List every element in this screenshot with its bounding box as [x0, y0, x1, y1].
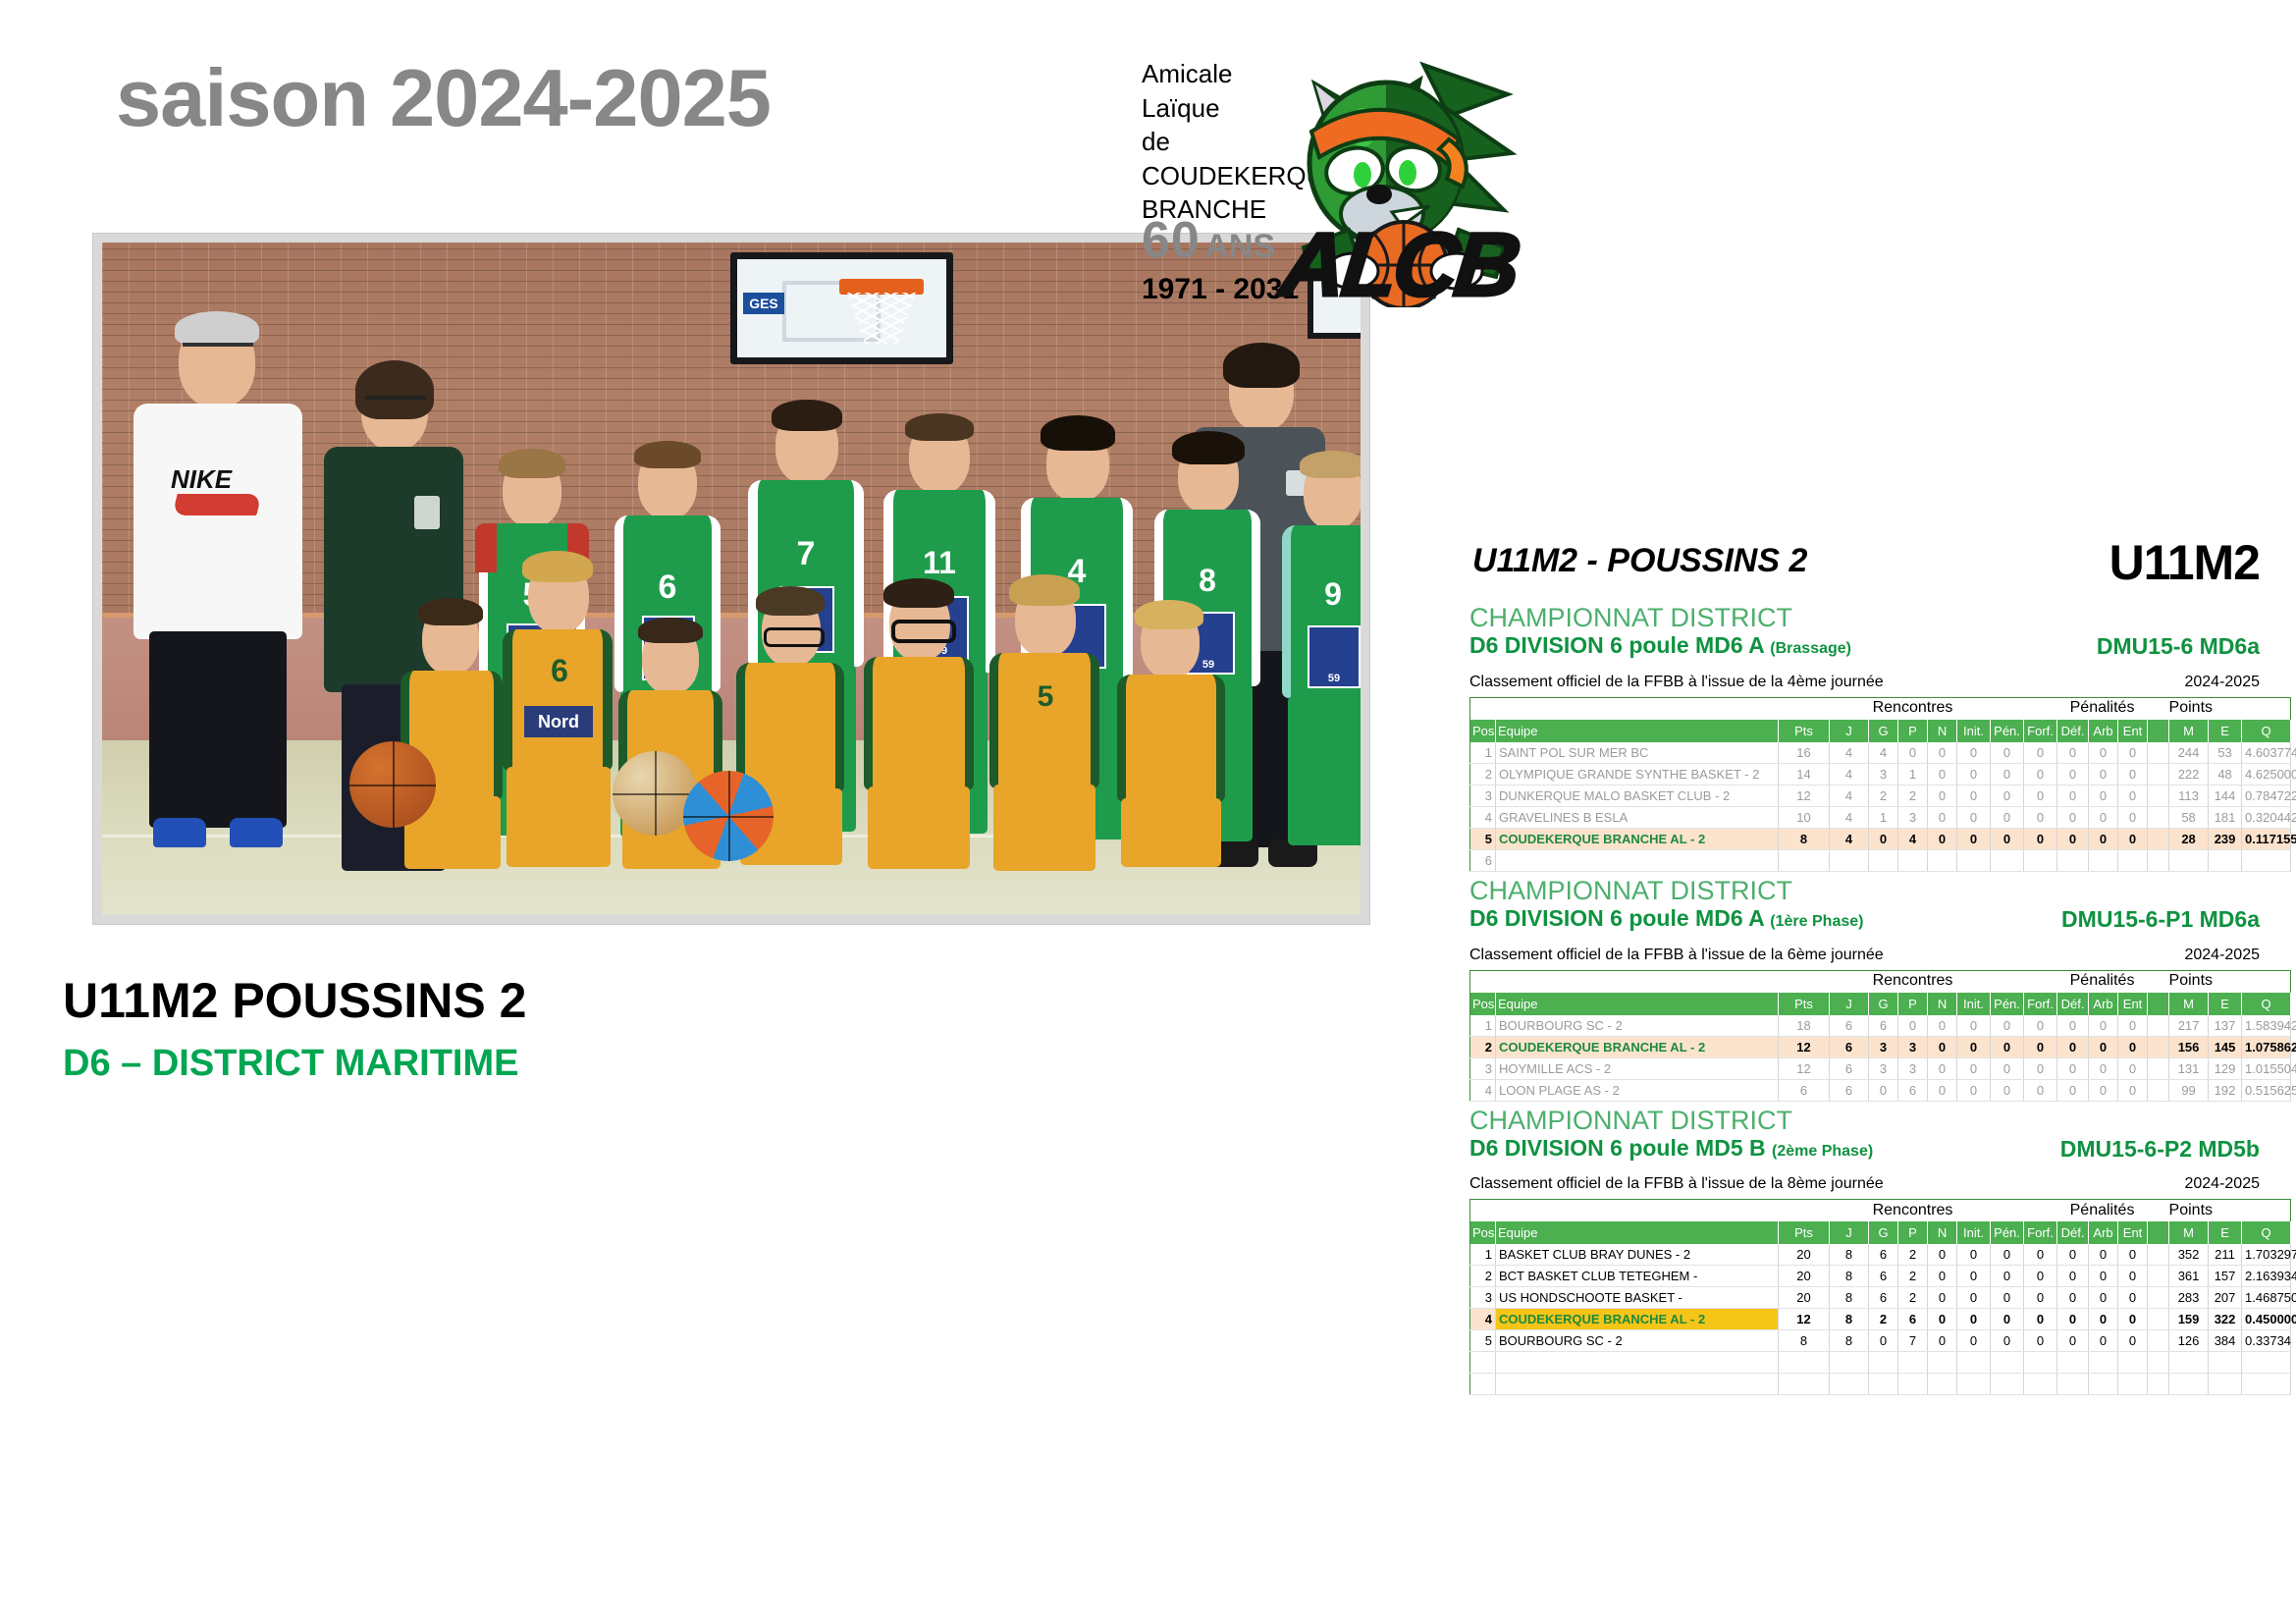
team-photo: GES NIKE [102, 243, 1361, 915]
table-row: 2COUDEKERQUE BRANCHE AL - 21263300000001… [1470, 1036, 2291, 1057]
cell-team: COUDEKERQUE BRANCHE AL - 2 [1496, 828, 1779, 849]
cell-pts: 16 [1779, 742, 1830, 764]
cell-arb: 0 [2089, 742, 2118, 764]
col-pen: Pén. [1991, 720, 2024, 742]
cell-n: 0 [1928, 1244, 1957, 1266]
cell-init: 0 [1957, 1079, 1991, 1101]
table-row: 1SAINT POL SUR MER BC164400000000244534.… [1470, 742, 2291, 764]
col-arb: Arb [2089, 993, 2118, 1015]
cell-forf: 0 [2024, 828, 2057, 849]
cell-forf [2024, 1374, 2057, 1395]
basketball-rim [839, 279, 924, 295]
cell-spacer [2148, 849, 2169, 871]
championship-label: CHAMPIONNAT DISTRICT [1469, 603, 2260, 632]
cell-g: 3 [1869, 1036, 1898, 1057]
cell-def: 0 [2057, 763, 2089, 785]
cell-pts: 12 [1779, 1036, 1830, 1057]
cell-j: 8 [1830, 1244, 1869, 1266]
cell-arb [2089, 1352, 2118, 1374]
cell-arb: 0 [2089, 785, 2118, 806]
division-line: D6 DIVISION 6 poule MD6 A (1ère Phase) D… [1469, 905, 2260, 933]
cell-init [1957, 849, 1991, 871]
col-j: J [1830, 1221, 1869, 1244]
cell-pos: 3 [1470, 1287, 1496, 1309]
cell-g: 3 [1869, 763, 1898, 785]
cell-spacer [2148, 1309, 2169, 1330]
cell-init: 0 [1957, 828, 1991, 849]
cell-init [1957, 1374, 1991, 1395]
cell-j: 4 [1830, 806, 1869, 828]
cell-e: 181 [2209, 806, 2242, 828]
cell-q: 1.075862 [2242, 1036, 2291, 1057]
cell-forf [2024, 1352, 2057, 1374]
cell-ent: 0 [2118, 1057, 2148, 1079]
cell-g: 2 [1869, 785, 1898, 806]
cell-pos: 2 [1470, 763, 1496, 785]
cell-p: 3 [1898, 806, 1928, 828]
cell-n: 0 [1928, 806, 1957, 828]
cell-q: 0.450000 [2242, 1309, 2291, 1330]
cell-e [2209, 1374, 2242, 1395]
cell-e: 207 [2209, 1287, 2242, 1309]
cell-init: 0 [1957, 1036, 1991, 1057]
col-j: J [1830, 720, 1869, 742]
player-gold-front-1 [395, 604, 512, 869]
cell-team: BASKET CLUB BRAY DUNES - 2 [1496, 1244, 1779, 1266]
division-code: DMU15-6 MD6a [2097, 633, 2260, 661]
cell-q: 4.625000 [2242, 763, 2291, 785]
cell-n: 0 [1928, 1309, 1957, 1330]
division-line: D6 DIVISION 6 poule MD6 A (Brassage) DMU… [1469, 632, 2260, 660]
cell-team: DUNKERQUE MALO BASKET CLUB - 2 [1496, 785, 1779, 806]
cell-forf: 0 [2024, 806, 2057, 828]
cell-forf: 0 [2024, 1015, 2057, 1037]
cell-g: 6 [1869, 1266, 1898, 1287]
cell-q [2242, 1374, 2291, 1395]
cell-init: 0 [1957, 1330, 1991, 1352]
classement-season: 2024-2025 [2184, 674, 2260, 691]
cell-e: 239 [2209, 828, 2242, 849]
cell-p: 6 [1898, 1309, 1928, 1330]
cell-arb: 0 [2089, 1036, 2118, 1057]
cell-init [1957, 1352, 1991, 1374]
cell-j: 6 [1830, 1079, 1869, 1101]
cell-pen: 0 [1991, 1015, 2024, 1037]
cell-n: 0 [1928, 1079, 1957, 1101]
cell-forf: 0 [2024, 1057, 2057, 1079]
cell-n: 0 [1928, 763, 1957, 785]
col-e: E [2209, 720, 2242, 742]
cell-pen: 0 [1991, 785, 2024, 806]
column-group-row: Rencontres Pénalités Points [1470, 697, 2291, 720]
cell-m: 131 [2169, 1057, 2209, 1079]
cell-spacer [2148, 785, 2169, 806]
table-row: 4LOON PLAGE AS - 266060000000991920.5156… [1470, 1079, 2291, 1101]
col-ent: Ent [2118, 720, 2148, 742]
cell-e: 145 [2209, 1036, 2242, 1057]
cell-def [2057, 1352, 2089, 1374]
group-rencontres: Rencontres [1869, 970, 1957, 993]
cell-pos [1470, 1352, 1496, 1374]
cell-arb: 0 [2089, 763, 2118, 785]
basketball-backboard: GES [730, 252, 953, 364]
cell-pos: 1 [1470, 742, 1496, 764]
cell-p: 4 [1898, 828, 1928, 849]
cell-pts [1779, 849, 1830, 871]
cell-pen: 0 [1991, 1079, 2024, 1101]
classement-line: Classement officiel de la FFBB à l'issue… [1469, 1175, 2260, 1193]
cell-pts: 8 [1779, 1330, 1830, 1352]
coach-male: NIKE [120, 317, 306, 867]
cell-m: 352 [2169, 1244, 2209, 1266]
cell-n [1928, 1352, 1957, 1374]
cell-spacer [2148, 806, 2169, 828]
cell-q: 1.703297 [2242, 1244, 2291, 1266]
cell-pos: 5 [1470, 1330, 1496, 1352]
cell-e: 53 [2209, 742, 2242, 764]
cell-spacer [2148, 1244, 2169, 1266]
cell-spacer [2148, 1287, 2169, 1309]
col-m: M [2169, 993, 2209, 1015]
cell-n: 0 [1928, 742, 1957, 764]
col-m: M [2169, 1221, 2209, 1244]
cell-def [2057, 1374, 2089, 1395]
cell-init: 0 [1957, 763, 1991, 785]
cell-arb: 0 [2089, 828, 2118, 849]
col-ent: Ent [2118, 1221, 2148, 1244]
col-init: Init. [1957, 720, 1991, 742]
cell-pos: 4 [1470, 1079, 1496, 1101]
cell-pos: 6 [1470, 849, 1496, 871]
cell-n: 0 [1928, 1015, 1957, 1037]
cell-ent: 0 [2118, 1036, 2148, 1057]
col-team: Equipe [1496, 720, 1779, 742]
cell-m: 244 [2169, 742, 2209, 764]
cell-arb: 0 [2089, 1244, 2118, 1266]
cell-def: 0 [2057, 1057, 2089, 1079]
player-gold-front-4 [858, 586, 982, 871]
cell-forf: 0 [2024, 785, 2057, 806]
cell-pts: 12 [1779, 1309, 1830, 1330]
cell-def: 0 [2057, 828, 2089, 849]
standings-rows: 1BASKET CLUB BRAY DUNES - 22086200000003… [1470, 1244, 2291, 1395]
cell-pts [1779, 1374, 1830, 1395]
classement-text: Classement officiel de la FFBB à l'issue… [1469, 674, 1884, 690]
cell-ent: 0 [2118, 763, 2148, 785]
cell-def: 0 [2057, 806, 2089, 828]
basketball-blue-orange [683, 771, 774, 861]
cell-g: 6 [1869, 1287, 1898, 1309]
club-logo-wordmark: ALCB [1275, 214, 1522, 317]
cell-j: 4 [1830, 763, 1869, 785]
cell-j: 8 [1830, 1287, 1869, 1309]
cell-arb: 0 [2089, 1015, 2118, 1037]
group-rencontres: Rencontres [1869, 1200, 1957, 1222]
cell-pts [1779, 1352, 1830, 1374]
cell-e: 384 [2209, 1330, 2242, 1352]
season-title: saison 2024-2025 [116, 57, 771, 138]
anniversary-number: 60 [1142, 212, 1201, 269]
championship-label: CHAMPIONNAT DISTRICT [1469, 876, 2260, 905]
cell-j: 6 [1830, 1015, 1869, 1037]
cell-ent: 0 [2118, 806, 2148, 828]
column-header-row: Pos Equipe PtsJG PNInit. Pén.Forf.Déf. A… [1470, 1221, 2291, 1244]
cell-ent: 0 [2118, 742, 2148, 764]
cell-init: 0 [1957, 1287, 1991, 1309]
cell-def: 0 [2057, 1309, 2089, 1330]
cell-def: 0 [2057, 742, 2089, 764]
cell-p: 3 [1898, 1036, 1928, 1057]
cell-team: BOURBOURG SC - 2 [1496, 1015, 1779, 1037]
cell-team: BCT BASKET CLUB TETEGHEM - [1496, 1266, 1779, 1287]
cell-ent [2118, 849, 2148, 871]
cell-init: 0 [1957, 806, 1991, 828]
cell-n: 0 [1928, 1287, 1957, 1309]
cell-pts: 14 [1779, 763, 1830, 785]
col-forf: Forf. [2024, 720, 2057, 742]
cell-forf: 0 [2024, 1079, 2057, 1101]
cell-p [1898, 849, 1928, 871]
cell-pos: 4 [1470, 806, 1496, 828]
col-q: Q [2242, 720, 2291, 742]
cell-g: 0 [1869, 1330, 1898, 1352]
cell-e [2209, 1352, 2242, 1374]
anniversary-word: ANS [1204, 228, 1275, 265]
cell-pts: 10 [1779, 806, 1830, 828]
col-n: N [1928, 720, 1957, 742]
table-row [1470, 1352, 2291, 1374]
group-penalites: Pénalités [2057, 1200, 2148, 1222]
division-code: DMU15-6-P1 MD6a [2061, 906, 2260, 934]
division-code: DMU15-6-P2 MD5b [2060, 1136, 2260, 1164]
cell-m: 126 [2169, 1330, 2209, 1352]
col-def: Déf. [2057, 1221, 2089, 1244]
cell-def: 0 [2057, 1330, 2089, 1352]
page-title: U11M2 POUSSINS 2 [63, 972, 526, 1029]
cell-ent: 0 [2118, 1309, 2148, 1330]
cell-p: 2 [1898, 1266, 1928, 1287]
cell-e: 211 [2209, 1244, 2242, 1266]
cell-pen: 0 [1991, 1287, 2024, 1309]
cell-pos: 2 [1470, 1036, 1496, 1057]
col-forf: Forf. [2024, 993, 2057, 1015]
cell-ent: 0 [2118, 1287, 2148, 1309]
cell-pen [1991, 1352, 2024, 1374]
cell-ent [2118, 1352, 2148, 1374]
cell-pts: 8 [1779, 828, 1830, 849]
anniversary-block: 60 ANS [1142, 211, 1275, 270]
col-p: P [1898, 720, 1928, 742]
cell-arb: 0 [2089, 1079, 2118, 1101]
cell-pts: 20 [1779, 1266, 1830, 1287]
table-row: 4COUDEKERQUE BRANCHE AL - 21282600000001… [1470, 1309, 2291, 1330]
col-g: G [1869, 993, 1898, 1015]
col-arb: Arb [2089, 720, 2118, 742]
cell-q: 0.515625 [2242, 1079, 2291, 1101]
cell-m: 58 [2169, 806, 2209, 828]
cell-pts: 12 [1779, 1057, 1830, 1079]
cell-j: 8 [1830, 1330, 1869, 1352]
cell-team: OLYMPIQUE GRANDE SYNTHE BASKET - 2 [1496, 763, 1779, 785]
cell-q: 0.33734 [2242, 1330, 2291, 1352]
cell-spacer [2148, 1036, 2169, 1057]
cell-m: 159 [2169, 1309, 2209, 1330]
col-init: Init. [1957, 1221, 1991, 1244]
cell-forf: 0 [2024, 1266, 2057, 1287]
col-pts: Pts [1779, 720, 1830, 742]
cell-forf: 0 [2024, 742, 2057, 764]
cell-j: 4 [1830, 742, 1869, 764]
cell-j [1830, 849, 1869, 871]
cell-init: 0 [1957, 1266, 1991, 1287]
cell-q: 1.015504 [2242, 1057, 2291, 1079]
cell-def: 0 [2057, 1036, 2089, 1057]
cell-spacer [2148, 1266, 2169, 1287]
cell-pos: 1 [1470, 1015, 1496, 1037]
cell-init: 0 [1957, 742, 1991, 764]
cell-pen: 0 [1991, 1266, 2024, 1287]
cell-forf: 0 [2024, 1309, 2057, 1330]
table-row: 5COUDEKERQUE BRANCHE AL - 28404000000028… [1470, 828, 2291, 849]
cell-pen: 0 [1991, 742, 2024, 764]
cell-e: 157 [2209, 1266, 2242, 1287]
cell-p: 0 [1898, 1015, 1928, 1037]
classement-text: Classement officiel de la FFBB à l'issue… [1469, 1175, 1884, 1192]
table-row: 2OLYMPIQUE GRANDE SYNTHE BASKET - 214431… [1470, 763, 2291, 785]
standings-table: Rencontres Pénalités Points Pos Equipe P… [1469, 970, 2291, 1102]
cell-g: 6 [1869, 1015, 1898, 1037]
cell-def [2057, 849, 2089, 871]
standings-rows: 1SAINT POL SUR MER BC164400000000244534.… [1470, 742, 2291, 872]
cell-arb [2089, 849, 2118, 871]
table-row: 4GRAVELINES B ESLA104130000000581810.320… [1470, 806, 2291, 828]
cell-j: 6 [1830, 1036, 1869, 1057]
cell-ent: 0 [2118, 1330, 2148, 1352]
phase-label: (1ère Phase) [1770, 913, 1863, 930]
player-gold-front-6: 6 Nord [497, 559, 622, 873]
cell-e: 192 [2209, 1079, 2242, 1101]
cell-arb: 0 [2089, 1330, 2118, 1352]
cell-j: 8 [1830, 1309, 1869, 1330]
cell-q: 1.583942 [2242, 1015, 2291, 1037]
table-row: 3HOYMILLE ACS - 21263300000001311291.015… [1470, 1057, 2291, 1079]
cell-pts: 12 [1779, 785, 1830, 806]
cell-init: 0 [1957, 785, 1991, 806]
cell-m: 99 [2169, 1079, 2209, 1101]
cell-def: 0 [2057, 785, 2089, 806]
cell-def: 0 [2057, 1244, 2089, 1266]
cell-team: COUDEKERQUE BRANCHE AL - 2 [1496, 1036, 1779, 1057]
cell-pos [1470, 1374, 1496, 1395]
cell-team: US HONDSCHOOTE BASKET - [1496, 1287, 1779, 1309]
cell-pen [1991, 849, 2024, 871]
cell-q: 1.468750 [2242, 1287, 2291, 1309]
cell-forf: 0 [2024, 1330, 2057, 1352]
cell-arb [2089, 1374, 2118, 1395]
cell-pos: 5 [1470, 828, 1496, 849]
cell-team: BOURBOURG SC - 2 [1496, 1330, 1779, 1352]
cell-g [1869, 1374, 1898, 1395]
cell-g: 0 [1869, 828, 1898, 849]
basketball-orange-left [349, 741, 436, 828]
cell-spacer [2148, 828, 2169, 849]
phase-label: (Brassage) [1770, 640, 1851, 657]
col-team: Equipe [1496, 993, 1779, 1015]
cell-forf: 0 [2024, 1036, 2057, 1057]
cell-pen: 0 [1991, 1309, 2024, 1330]
cell-team: HOYMILLE ACS - 2 [1496, 1057, 1779, 1079]
group-penalites: Pénalités [2057, 697, 2148, 720]
col-n: N [1928, 993, 1957, 1015]
cell-pts: 20 [1779, 1244, 1830, 1266]
cell-spacer [2148, 763, 2169, 785]
cell-e: 144 [2209, 785, 2242, 806]
cell-j: 6 [1830, 1057, 1869, 1079]
col-m: M [2169, 720, 2209, 742]
col-pen: Pén. [1991, 1221, 2024, 1244]
cell-arb: 0 [2089, 1287, 2118, 1309]
cell-forf [2024, 849, 2057, 871]
col-q: Q [2242, 1221, 2291, 1244]
cell-p: 2 [1898, 1287, 1928, 1309]
standings-panel: U11M2 - POUSSINS 2 U11M2 CHAMPIONNAT DIS… [1469, 542, 2260, 1399]
cell-pts: 18 [1779, 1015, 1830, 1037]
cell-arb: 0 [2089, 1057, 2118, 1079]
category-code: U11M2 [2109, 534, 2260, 591]
cell-team: COUDEKERQUE BRANCHE AL - 2 [1496, 1309, 1779, 1330]
cell-pos: 1 [1470, 1244, 1496, 1266]
cell-p: 1 [1898, 763, 1928, 785]
cell-pos: 2 [1470, 1266, 1496, 1287]
cell-m: 113 [2169, 785, 2209, 806]
championship-label: CHAMPIONNAT DISTRICT [1469, 1106, 2260, 1135]
category-title: U11M2 - POUSSINS 2 [1472, 542, 1807, 580]
cell-spacer [2148, 1330, 2169, 1352]
cell-spacer [2148, 1352, 2169, 1374]
table-row: 5BOURBOURG SC - 2880700000001263840.3373… [1470, 1330, 2291, 1352]
group-points: Points [2169, 970, 2291, 993]
cell-q [2242, 849, 2291, 871]
table-row [1470, 1374, 2291, 1395]
cell-m: 156 [2169, 1036, 2209, 1057]
cell-ent: 0 [2118, 828, 2148, 849]
cell-g: 1 [1869, 806, 1898, 828]
cell-m: 217 [2169, 1015, 2209, 1037]
cell-ent: 0 [2118, 785, 2148, 806]
col-ent: Ent [2118, 993, 2148, 1015]
cell-team [1496, 1352, 1779, 1374]
cell-p: 2 [1898, 785, 1928, 806]
cell-pen: 0 [1991, 1244, 2024, 1266]
classement-text: Classement officiel de la FFBB à l'issue… [1469, 947, 1884, 963]
col-e: E [2209, 993, 2242, 1015]
cell-g: 6 [1869, 1244, 1898, 1266]
cell-pen [1991, 1374, 2024, 1395]
cell-g [1869, 849, 1898, 871]
cell-team [1496, 1374, 1779, 1395]
col-team: Equipe [1496, 1221, 1779, 1244]
cell-n: 0 [1928, 1330, 1957, 1352]
cell-n: 0 [1928, 1057, 1957, 1079]
col-pos: Pos [1470, 1221, 1496, 1244]
cell-def: 0 [2057, 1079, 2089, 1101]
cell-pts: 20 [1779, 1287, 1830, 1309]
cell-pos: 3 [1470, 785, 1496, 806]
cell-def: 0 [2057, 1015, 2089, 1037]
cell-p: 0 [1898, 742, 1928, 764]
standings-table: Rencontres Pénalités Points Pos Equipe P… [1469, 697, 2291, 872]
cell-spacer [2148, 1057, 2169, 1079]
